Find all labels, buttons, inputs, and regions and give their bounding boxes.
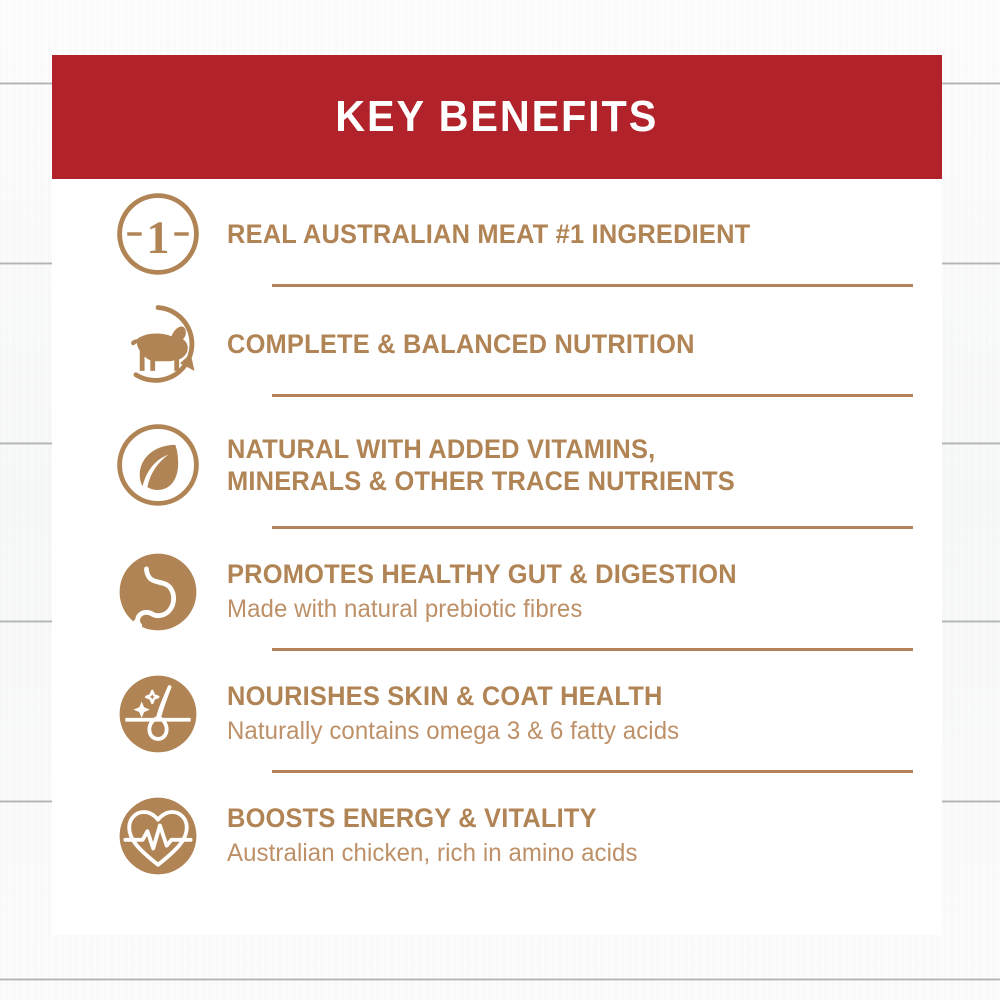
benefit-text: NOURISHES SKIN & COAT HEALTH Naturally c… xyxy=(210,680,698,748)
number-one-icon: 1 xyxy=(106,182,210,286)
benefit-subtitle: Naturally contains omega 3 & 6 fatty aci… xyxy=(227,715,679,748)
list-item: COMPLETE & BALANCED NUTRITION xyxy=(52,289,942,399)
row-divider xyxy=(272,648,913,651)
card-header-banner: KEY BENEFITS xyxy=(52,55,942,179)
benefit-title: PROMOTES HEALTHY GUT & DIGESTION xyxy=(227,558,737,590)
list-item: NATURAL WITH ADDED VITAMINS, MINERALS & … xyxy=(52,399,942,531)
benefit-text: NATURAL WITH ADDED VITAMINS, MINERALS & … xyxy=(210,433,756,498)
benefit-text: PROMOTES HEALTHY GUT & DIGESTION Made wi… xyxy=(210,558,758,626)
benefit-title: NOURISHES SKIN & COAT HEALTH xyxy=(227,680,679,712)
benefit-title: NATURAL WITH ADDED VITAMINS, MINERALS & … xyxy=(227,433,735,498)
benefit-title: BOOSTS ENERGY & VITALITY xyxy=(227,802,638,834)
hair-follicle-icon xyxy=(106,662,210,766)
plank-seam xyxy=(0,978,1000,981)
row-divider xyxy=(272,526,913,529)
leaf-icon xyxy=(106,413,210,517)
row-divider xyxy=(272,770,913,773)
benefit-subtitle: Australian chicken, rich in amino acids xyxy=(227,837,638,870)
benefit-text: COMPLETE & BALANCED NUTRITION xyxy=(210,328,714,360)
list-item: BOOSTS ENERGY & VITALITY Australian chic… xyxy=(52,775,942,897)
benefit-subtitle: Made with natural prebiotic fibres xyxy=(227,593,737,626)
benefit-title: COMPLETE & BALANCED NUTRITION xyxy=(227,328,695,360)
key-benefits-card: KEY BENEFITS 1 REAL AUSTRALIAN MEAT #1 I… xyxy=(52,55,942,935)
benefits-list: 1 REAL AUSTRALIAN MEAT #1 INGREDIENT xyxy=(52,179,942,897)
list-item: NOURISHES SKIN & COAT HEALTH Naturally c… xyxy=(52,653,942,775)
dog-cycle-icon xyxy=(106,292,210,396)
stomach-icon xyxy=(106,540,210,644)
row-divider xyxy=(272,394,913,397)
benefit-text: REAL AUSTRALIAN MEAT #1 INGREDIENT xyxy=(210,218,772,250)
heart-pulse-icon xyxy=(106,784,210,888)
row-divider xyxy=(272,284,913,287)
list-item: PROMOTES HEALTHY GUT & DIGESTION Made wi… xyxy=(52,531,942,653)
benefit-title: REAL AUSTRALIAN MEAT #1 INGREDIENT xyxy=(227,218,750,250)
benefit-text: BOOSTS ENERGY & VITALITY Australian chic… xyxy=(210,802,655,870)
page-title: KEY BENEFITS xyxy=(336,92,659,142)
svg-text:1: 1 xyxy=(146,212,169,263)
page-background: KEY BENEFITS 1 REAL AUSTRALIAN MEAT #1 I… xyxy=(0,0,1000,1000)
list-item: 1 REAL AUSTRALIAN MEAT #1 INGREDIENT xyxy=(52,179,942,289)
